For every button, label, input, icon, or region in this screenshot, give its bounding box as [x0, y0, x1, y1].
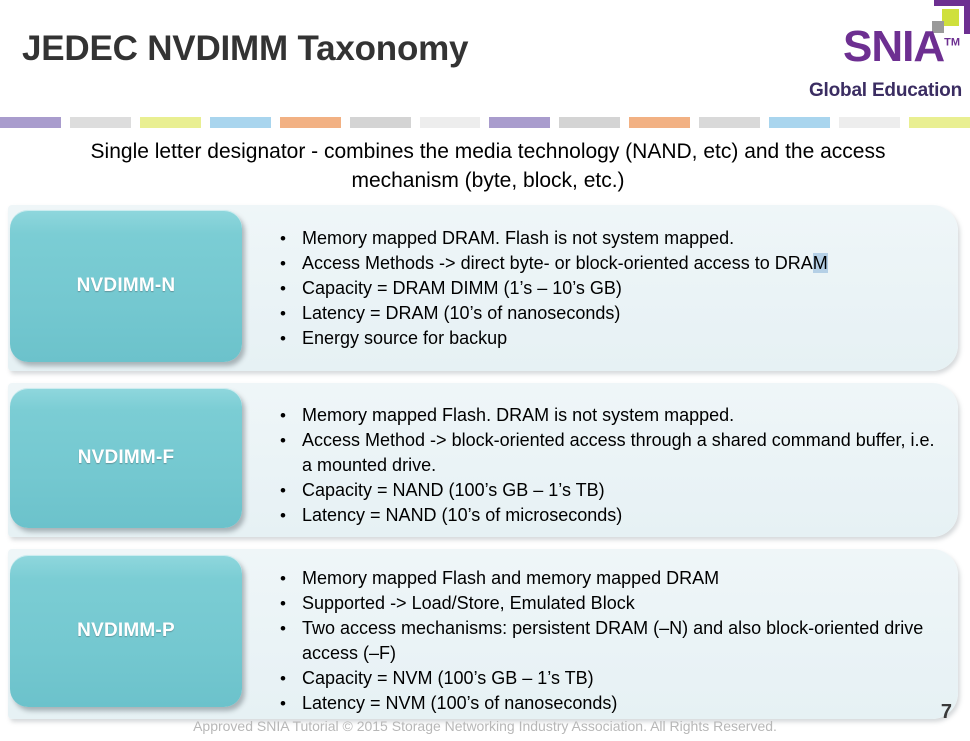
slide-subtitle: Single letter designator - combines the …	[48, 137, 928, 195]
bullet-item: Energy source for backup	[276, 326, 948, 351]
row-label-nvdimm-p[interactable]: NVDIMM-P	[10, 555, 242, 707]
bullet-item: Latency = NVM (100’s of nanoseconds)	[276, 691, 948, 716]
bullet-item: Supported -> Load/Store, Emulated Block	[276, 591, 948, 616]
page-title: JEDEC NVDIMM Taxonomy	[22, 29, 468, 69]
color-bar-segment-10	[699, 117, 760, 128]
taxonomy-row: NVDIMM-FMemory mapped Flash. DRAM is not…	[8, 383, 958, 537]
color-bar-segment-7	[489, 117, 550, 128]
bullet-item: Memory mapped Flash. DRAM is not system …	[276, 403, 948, 428]
slide-header: JEDEC NVDIMM Taxonomy SNIATM Global Educ…	[0, 0, 970, 114]
bullet-item: Memory mapped Flash and memory mapped DR…	[276, 566, 948, 591]
color-bar-segment-6	[420, 117, 481, 128]
text-selection-highlight: M	[813, 253, 828, 273]
color-bar-segment-12	[839, 117, 900, 128]
color-divider-bar	[0, 117, 970, 128]
bullet-item: Latency = NAND (10’s of microseconds)	[276, 503, 948, 528]
logo-green-square-shape	[942, 9, 959, 26]
bullet-text: Access Methods -> direct byte- or block-…	[302, 253, 813, 273]
color-bar-segment-1	[70, 117, 131, 128]
footer-copyright: Approved SNIA Tutorial © 2015 Storage Ne…	[0, 718, 970, 734]
bullet-item: Capacity = NAND (100’s GB – 1’s TB)	[276, 478, 948, 503]
row-label-text: NVDIMM-F	[78, 447, 175, 469]
row-bullet-list: Memory mapped DRAM. Flash is not system …	[276, 226, 948, 351]
bullet-item: Latency = DRAM (10’s of nanoseconds)	[276, 301, 948, 326]
row-label-text: NVDIMM-P	[77, 620, 175, 642]
row-label-text: NVDIMM-N	[77, 275, 176, 297]
bullet-item: Capacity = DRAM DIMM (1’s – 10’s GB)	[276, 276, 948, 301]
color-bar-segment-13	[909, 117, 970, 128]
bullet-item: Access Methods -> direct byte- or block-…	[276, 251, 948, 276]
trademark-symbol: TM	[944, 36, 960, 48]
snia-logo: SNIATM Global Education	[785, 0, 970, 112]
bullet-item: Memory mapped DRAM. Flash is not system …	[276, 226, 948, 251]
bullet-item: Access Method -> block-oriented access t…	[276, 428, 948, 478]
color-bar-segment-2	[140, 117, 201, 128]
color-bar-segment-4	[280, 117, 341, 128]
color-bar-segment-11	[769, 117, 830, 128]
taxonomy-row: NVDIMM-NMemory mapped DRAM. Flash is not…	[8, 205, 958, 371]
row-label-nvdimm-n[interactable]: NVDIMM-N	[10, 210, 242, 362]
row-label-nvdimm-f[interactable]: NVDIMM-F	[10, 388, 242, 528]
color-bar-segment-0	[0, 117, 61, 128]
page-number: 7	[941, 701, 952, 724]
row-bullet-list: Memory mapped Flash and memory mapped DR…	[276, 566, 948, 716]
color-bar-segment-8	[559, 117, 620, 128]
snia-tagline: Global Education	[809, 80, 962, 102]
color-bar-segment-5	[350, 117, 411, 128]
snia-wordmark: SNIATM	[843, 25, 960, 69]
bullet-item: Two access mechanisms: persistent DRAM (…	[276, 616, 948, 666]
color-bar-segment-9	[629, 117, 690, 128]
snia-wordmark-text: SNIA	[843, 22, 944, 71]
taxonomy-row: NVDIMM-PMemory mapped Flash and memory m…	[8, 549, 958, 719]
row-bullet-list: Memory mapped Flash. DRAM is not system …	[276, 403, 948, 528]
bullet-item: Capacity = NVM (100’s GB – 1’s TB)	[276, 666, 948, 691]
color-bar-segment-3	[210, 117, 271, 128]
